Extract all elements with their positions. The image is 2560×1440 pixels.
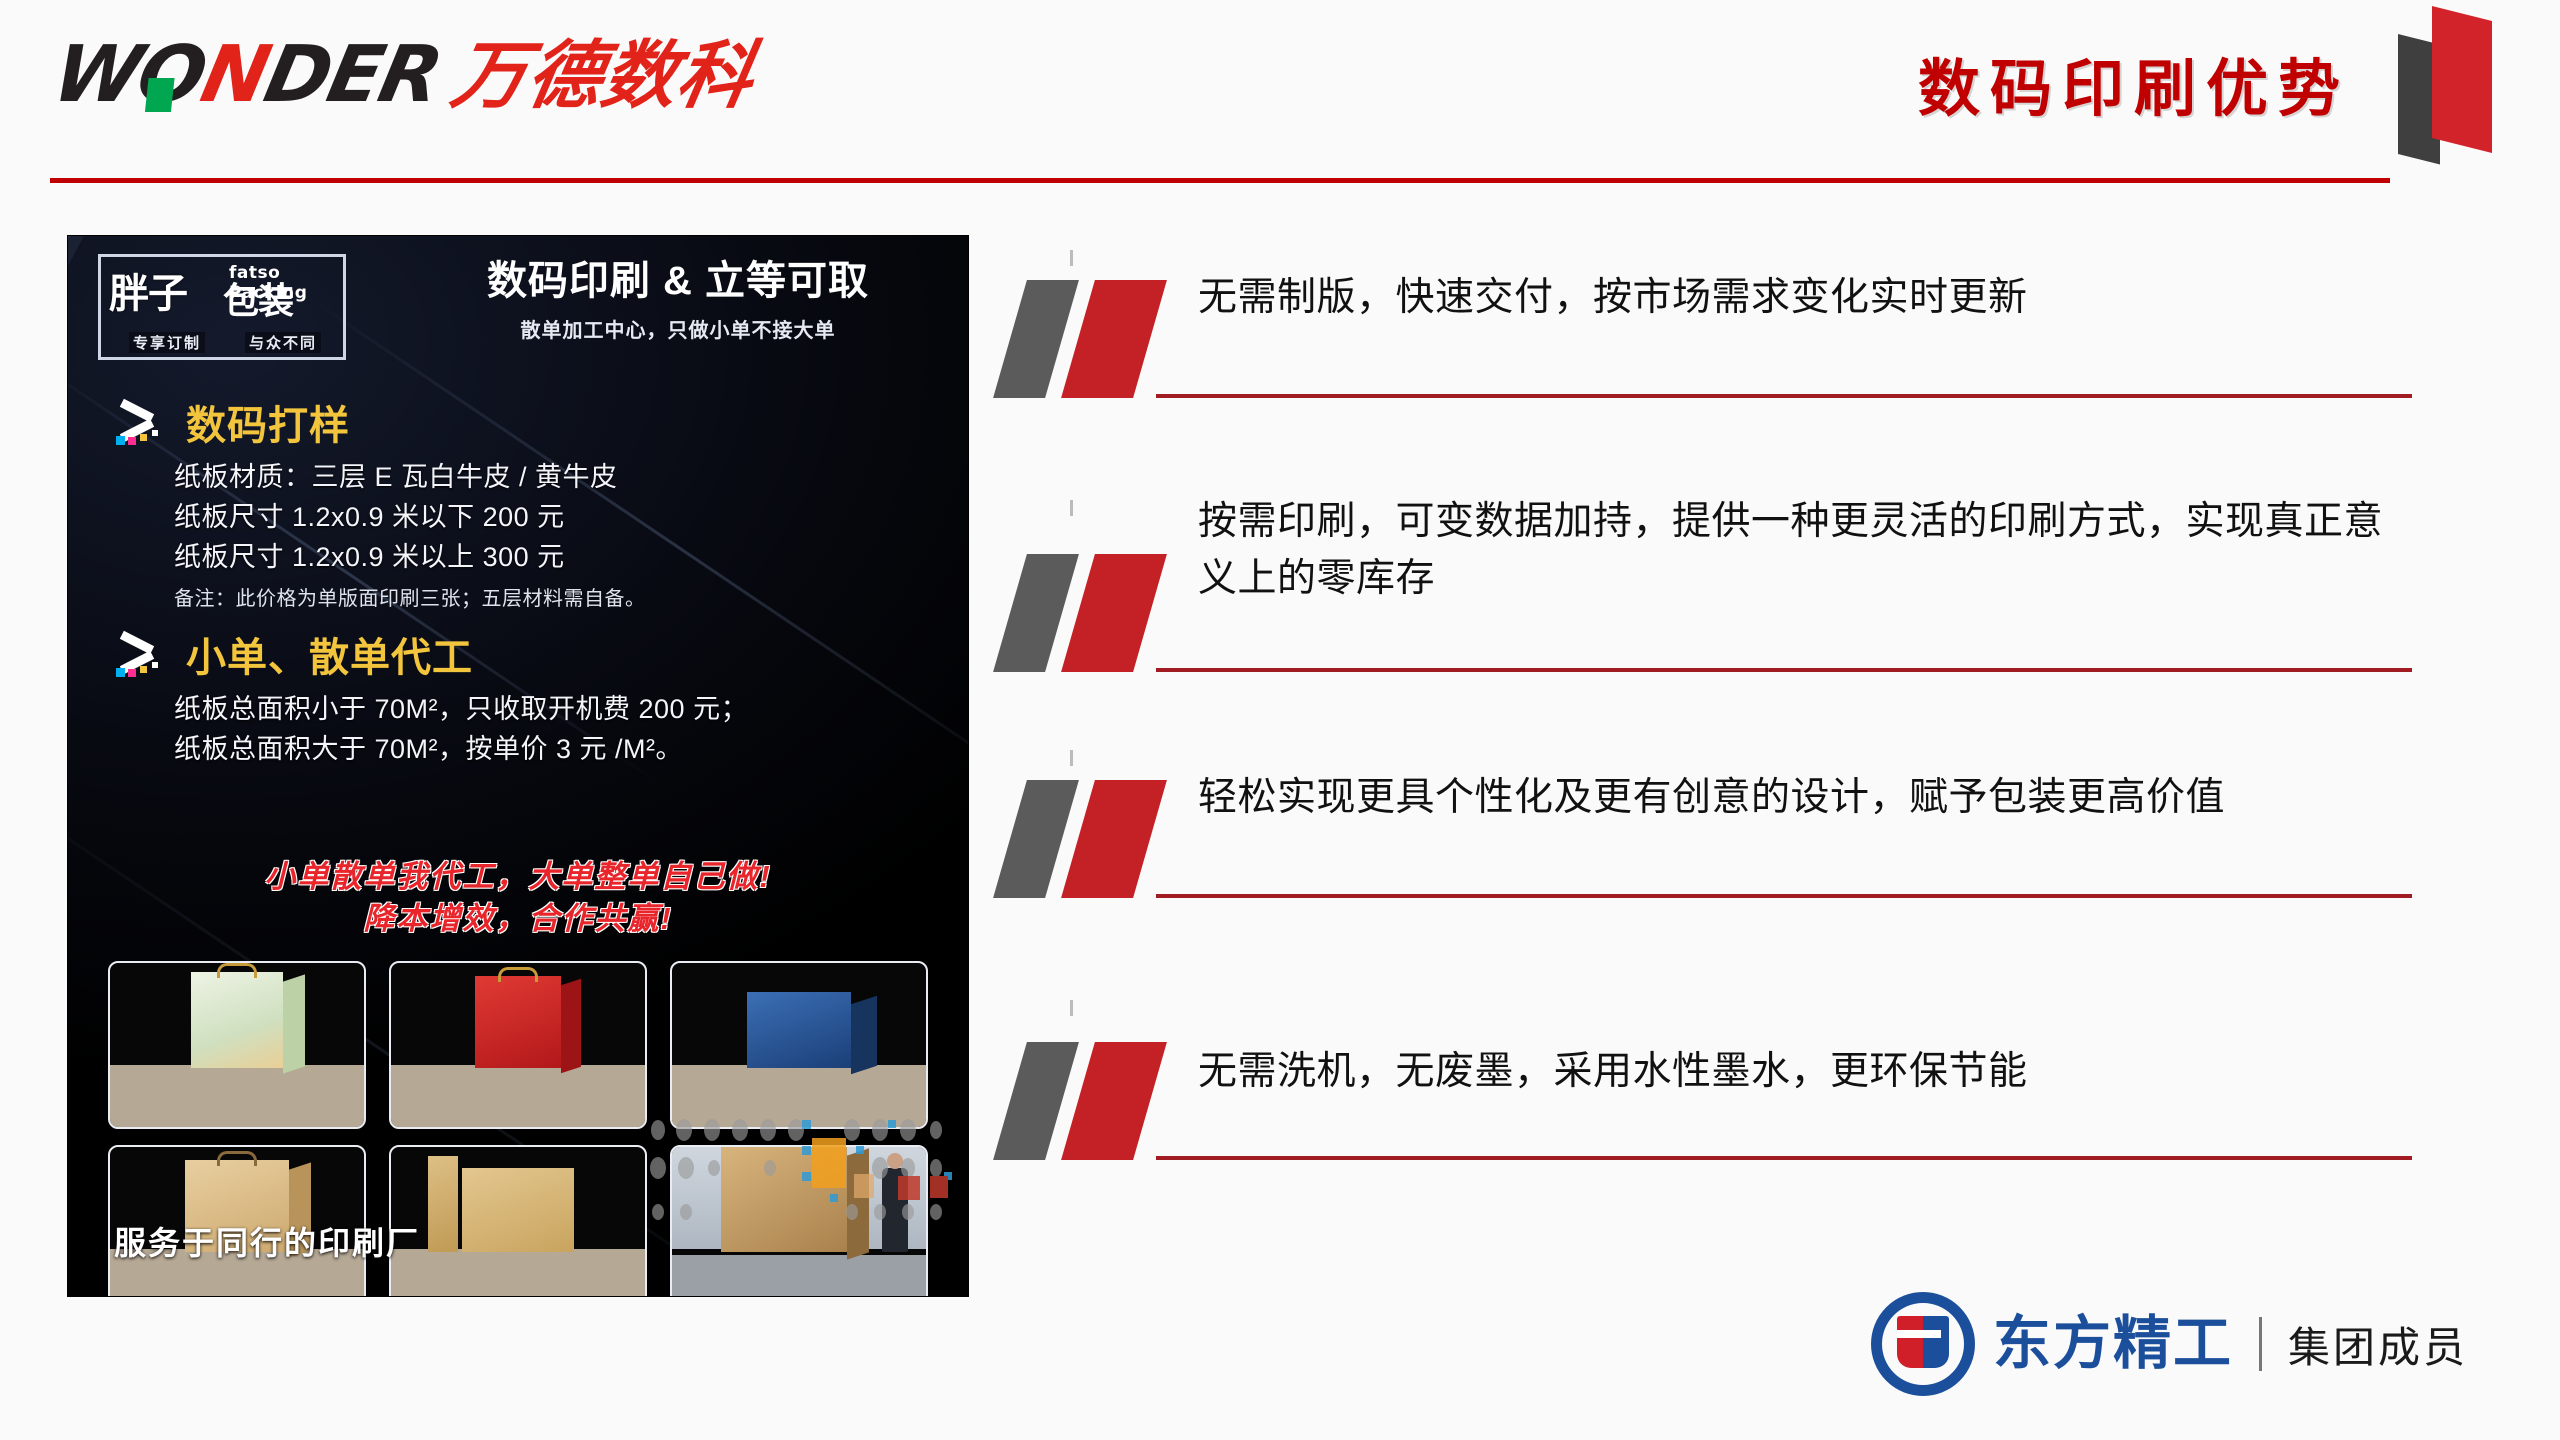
bullet-red-bar <box>1061 280 1167 398</box>
poster-headline: 数码印刷 & 立等可取 <box>418 256 938 306</box>
dongfang-logo-shield <box>1897 1316 1923 1368</box>
page-title: 数码印刷优势 <box>1918 38 2350 128</box>
poster-section-title: 小单、散单代工 <box>114 636 934 680</box>
tick-mark <box>1070 750 1073 766</box>
poster-section-title: 数码打样 <box>114 404 934 448</box>
fatso-logo-cn: 胖子 <box>109 274 187 314</box>
advantage-item-1: 无需制版，快速交付，按市场需求变化实时更新 <box>1010 270 2430 520</box>
poster-slogan: 小单散单我代工，大单整单自己做! 降本增效，合作共赢! <box>68 856 968 940</box>
advantage-text: 无需制版，快速交付，按市场需求变化实时更新 <box>1198 270 2398 327</box>
wonder-logo: WONDER 万德数科 <box>55 36 753 114</box>
poster-section-line: 纸板总面积大于 70M²，按单价 3 元 /M²。 <box>174 730 934 770</box>
slide-header: WONDER 万德数科 数码印刷优势 <box>0 0 2560 190</box>
advantages-list: 无需制版，快速交付，按市场需求变化实时更新 按需印刷，可变数据加持，提供一种更灵… <box>1010 270 2430 1270</box>
advantage-item-4: 无需洗机，无废墨，采用水性墨水，更环保节能 <box>1010 1020 2430 1270</box>
wonder-logo-en: WONDER <box>47 36 447 114</box>
poster-section-line: 纸板总面积小于 70M²，只收取开机费 200 元； <box>174 690 934 730</box>
corner-red-shape <box>2432 6 2492 153</box>
advantage-underline <box>1156 668 2412 672</box>
footer-brand: 东方精工 集团成员 <box>1871 1292 2468 1396</box>
poster-slogan-line: 降本增效，合作共赢! <box>68 898 968 940</box>
poster-section-line: 纸板材质：三层 E 瓦白牛皮 / 黄牛皮 <box>174 458 934 498</box>
poster-slogan-line: 小单散单我代工，大单整单自己做! <box>68 856 968 898</box>
bullet-red-bar <box>1061 1042 1167 1160</box>
product-photo-honey <box>108 961 366 1129</box>
dot-matrix-decoration <box>644 1116 968 1296</box>
fatso-sub-left: 专享订制 <box>129 332 205 353</box>
poster-section-line: 纸板尺寸 1.2x0.9 米以上 300 元 <box>174 538 934 578</box>
fatso-sub-right: 与众不同 <box>245 332 321 353</box>
fatso-logo-bao: 包装 <box>223 283 293 319</box>
bullet-marker-icon <box>1010 1042 1190 1160</box>
advantage-text: 无需洗机，无废墨，采用水性墨水，更环保节能 <box>1198 1044 2398 1101</box>
poster-section-proofing: 数码打样 纸板材质：三层 E 瓦白牛皮 / 黄牛皮 纸板尺寸 1.2x0.9 米… <box>114 404 934 611</box>
advantage-item-3: 轻松实现更具个性化及更有创意的设计，赋予包装更高价值 <box>1010 770 2430 1020</box>
bullet-marker-icon <box>1010 554 1190 672</box>
fatso-logo-sub: 专享订制 与众不同 <box>109 332 341 353</box>
product-row <box>108 961 928 1129</box>
arrow-chevron-icon <box>114 404 176 448</box>
poster-section-lines: 纸板材质：三层 E 瓦白牛皮 / 黄牛皮 纸板尺寸 1.2x0.9 米以下 20… <box>174 458 934 611</box>
product-photo-chicken <box>389 961 647 1129</box>
advantage-underline <box>1156 1156 2412 1160</box>
bullet-marker-icon <box>1010 280 1190 398</box>
poster-section-note: 备注：此价格为单版面印刷三张；五层材料需自备。 <box>174 582 934 611</box>
wonder-logo-cn: 万德数科 <box>446 39 759 113</box>
slide-root: WONDER 万德数科 数码印刷优势 胖子 fatso Packing 包装 专… <box>0 0 2560 1440</box>
tick-mark <box>1070 1000 1073 1016</box>
poster-footer-text: 服务于同行的印刷厂 <box>114 1218 420 1264</box>
poster-image: 胖子 fatso Packing 包装 专享订制 与众不同 数码印刷 & 立等可… <box>68 236 968 1296</box>
footer-divider <box>2259 1317 2262 1371</box>
tick-mark <box>1070 500 1073 516</box>
poster-headline-group: 数码印刷 & 立等可取 散单加工中心，只做小单不接大单 <box>418 256 938 343</box>
advantage-text: 按需印刷，可变数据加持，提供一种更灵活的印刷方式，实现真正意义上的零库存 <box>1198 494 2398 607</box>
advantage-underline <box>1156 894 2412 898</box>
poster-section-title-text: 小单、散单代工 <box>186 638 473 678</box>
footer-member-label: 集团成员 <box>2288 1314 2468 1375</box>
bullet-red-bar <box>1061 554 1167 672</box>
poster-section-oem: 小单、散单代工 纸板总面积小于 70M²，只收取开机费 200 元； 纸板总面积… <box>114 636 934 770</box>
arrow-chevron-icon <box>114 636 176 680</box>
bullet-marker-icon <box>1010 780 1190 898</box>
header-divider <box>50 178 2390 183</box>
dongfang-logo-f <box>1923 1316 1949 1368</box>
corner-decoration-icon <box>2398 6 2498 156</box>
product-photo-classic <box>389 1145 647 1296</box>
poster-header: 胖子 fatso Packing 包装 专享订制 与众不同 数码印刷 & 立等可… <box>68 236 968 376</box>
advantage-text: 轻松实现更具个性化及更有创意的设计，赋予包装更高价值 <box>1198 770 2398 827</box>
dongfang-logo-icon <box>1871 1292 1975 1396</box>
poster-section-lines: 纸板总面积小于 70M²，只收取开机费 200 元； 纸板总面积大于 70M²，… <box>174 690 934 770</box>
footer-company-name: 东方精工 <box>1993 1315 2233 1373</box>
poster-section-line: 纸板尺寸 1.2x0.9 米以下 200 元 <box>174 498 934 538</box>
poster-subheadline: 散单加工中心，只做小单不接大单 <box>418 314 938 343</box>
advantage-underline <box>1156 394 2412 398</box>
bullet-red-bar <box>1061 780 1167 898</box>
tick-mark <box>1070 250 1073 266</box>
product-photo-beefpie <box>670 961 928 1129</box>
fatso-logo: 胖子 fatso Packing 包装 专享订制 与众不同 <box>98 254 346 360</box>
poster-section-title-text: 数码打样 <box>186 406 350 446</box>
advantage-item-2: 按需印刷，可变数据加持，提供一种更灵活的印刷方式，实现真正意义上的零库存 <box>1010 520 2430 770</box>
